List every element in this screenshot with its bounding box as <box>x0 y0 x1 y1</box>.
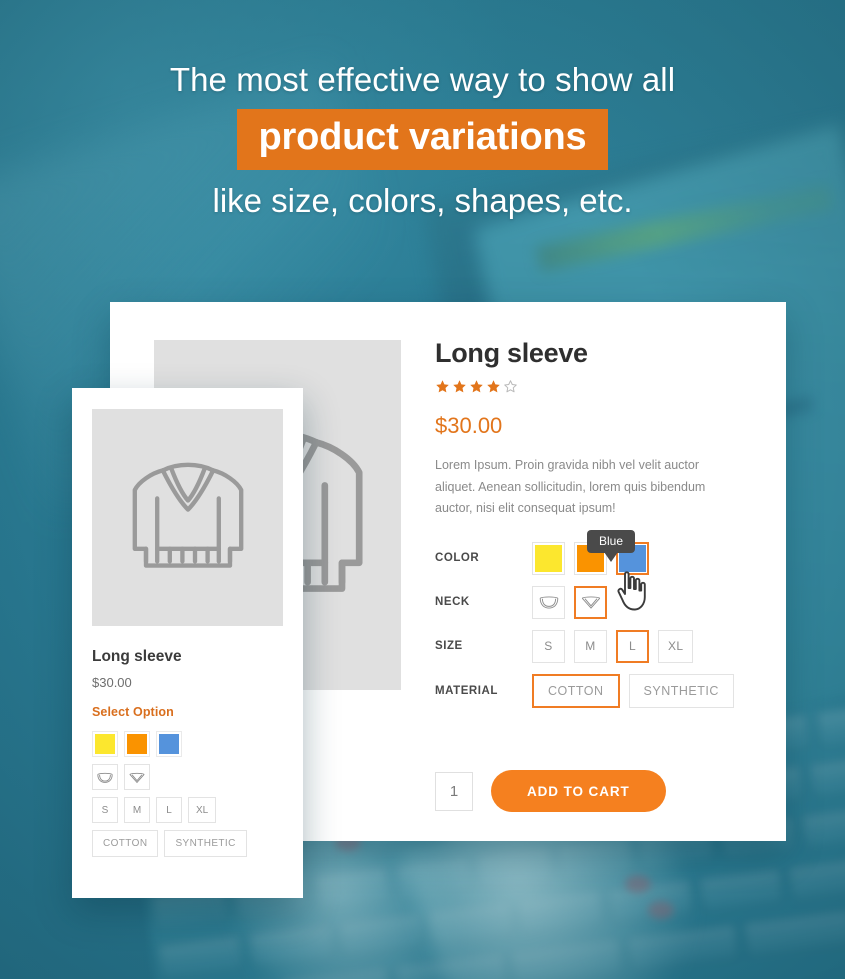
card-options: S M L XL COTTON SYNTHETIC <box>92 731 289 857</box>
add-to-cart-button[interactable]: ADD TO CART <box>491 770 666 812</box>
card-color-swatch-yellow[interactable] <box>92 731 118 757</box>
color-tooltip: Blue <box>587 530 635 553</box>
card-color-swatch-blue[interactable] <box>156 731 182 757</box>
card-neck-options <box>92 764 289 790</box>
size-option-l[interactable]: L <box>616 630 649 663</box>
product-card: Long sleeve $30.00 Select Option <box>72 388 303 898</box>
attribute-row-material: MATERIAL COTTON SYNTHETIC <box>435 674 755 708</box>
product-description: Lorem Ipsum. Proin gravida nibh vel veli… <box>435 455 735 520</box>
card-neck-option-v[interactable] <box>124 764 150 790</box>
size-option-s[interactable]: S <box>532 630 565 663</box>
size-option-xl[interactable]: XL <box>658 630 693 663</box>
round-neck-icon <box>96 771 114 784</box>
card-size-option-s[interactable]: S <box>92 797 118 823</box>
card-color-swatch-orange[interactable] <box>124 731 150 757</box>
product-info: Long sleeve $30.00 Lorem Ipsum. Proin gr… <box>435 338 755 719</box>
star-empty-icon <box>503 379 518 394</box>
card-size-option-xl[interactable]: XL <box>188 797 216 823</box>
material-option-cotton[interactable]: COTTON <box>532 674 620 708</box>
card-size-option-m[interactable]: M <box>124 797 150 823</box>
card-size-options: S M L XL <box>92 797 289 823</box>
round-neck-icon <box>538 594 560 610</box>
attribute-label-neck: NECK <box>435 596 532 608</box>
neck-option-round[interactable] <box>532 586 565 619</box>
star-filled-icon <box>452 379 467 394</box>
attribute-label-material: MATERIAL <box>435 685 532 697</box>
headline: The most effective way to show all produ… <box>0 60 845 221</box>
quantity-input[interactable]: 1 <box>435 772 473 811</box>
attribute-row-size: SIZE S M L XL <box>435 630 755 663</box>
v-neck-icon <box>580 594 602 610</box>
star-filled-icon <box>486 379 501 394</box>
card-material-options: COTTON SYNTHETIC <box>92 830 289 857</box>
card-product-price: $30.00 <box>92 675 289 690</box>
star-filled-icon <box>469 379 484 394</box>
purchase-row: 1 ADD TO CART <box>435 770 666 812</box>
neck-option-v[interactable] <box>574 586 607 619</box>
star-rating <box>435 379 755 394</box>
material-option-synthetic[interactable]: SYNTHETIC <box>629 674 734 708</box>
headline-line-3: like size, colors, shapes, etc. <box>0 181 845 221</box>
card-material-option-synthetic[interactable]: SYNTHETIC <box>164 830 246 857</box>
card-select-option-label: Select Option <box>92 705 289 719</box>
sweater-icon <box>118 448 258 588</box>
headline-highlight: product variations <box>237 109 609 169</box>
attribute-label-color: COLOR <box>435 552 532 564</box>
product-attributes: COLOR NECK <box>435 542 755 708</box>
card-product-image <box>92 409 283 626</box>
card-color-options <box>92 731 289 757</box>
card-material-option-cotton[interactable]: COTTON <box>92 830 158 857</box>
size-option-m[interactable]: M <box>574 630 607 663</box>
promo-banner: The most effective way to show all produ… <box>0 0 845 979</box>
headline-line-1: The most effective way to show all <box>0 60 845 100</box>
product-price: $30.00 <box>435 413 755 439</box>
color-swatch-yellow[interactable] <box>532 542 565 575</box>
v-neck-icon <box>128 771 146 784</box>
card-body: Long sleeve $30.00 Select Option <box>92 648 289 864</box>
attribute-label-size: SIZE <box>435 640 532 652</box>
star-filled-icon <box>435 379 450 394</box>
card-product-title: Long sleeve <box>92 648 289 666</box>
card-size-option-l[interactable]: L <box>156 797 182 823</box>
product-title: Long sleeve <box>435 338 755 369</box>
card-neck-option-round[interactable] <box>92 764 118 790</box>
attribute-row-neck: NECK <box>435 586 755 619</box>
